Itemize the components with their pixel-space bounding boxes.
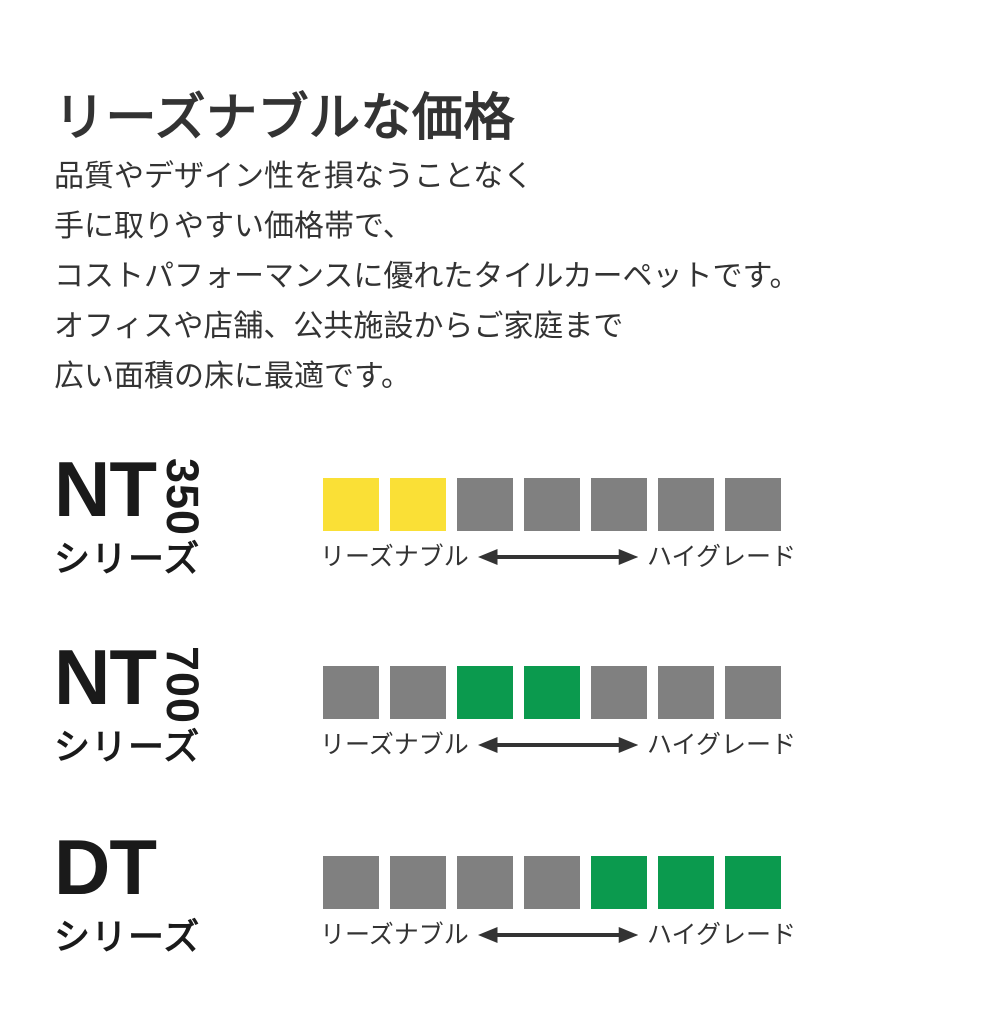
grade-swatch [658,478,714,531]
double-headed-arrow-icon [478,925,638,945]
grade-swatch [524,666,580,719]
scale-high-label: ハイグレード [647,728,796,762]
body-line: 広い面積の床に最適です。 [54,352,800,402]
grade-swatch [725,666,781,719]
scale-low-label: リーズナブル [320,540,469,574]
series-label-nt700: NT 700 シリーズ [54,636,304,786]
series-subtitle: シリーズ [54,718,200,770]
series-name-number: 350 [160,458,205,536]
grade-swatch [390,478,446,531]
scale-low-label: リーズナブル [320,728,469,762]
series-name: NT 700 [54,644,205,710]
price-grade-scale: リーズナブル ハイグレード [323,666,793,776]
swatch-strip [323,856,781,909]
promo-page: リーズナブルな価格 品質やデザイン性を損なうことなく 手に取りやすい価格帯で、 … [0,0,1000,1000]
series-row: NT 350 シリーズ リーズナブル ハイグレード [0,448,1000,638]
swatch-strip [323,478,781,531]
scale-legend: リーズナブル ハイグレード [320,918,796,952]
grade-swatch [524,478,580,531]
series-name-main: DT [54,834,156,900]
grade-swatch [591,856,647,909]
scale-legend: リーズナブル ハイグレード [320,728,796,762]
scale-legend: リーズナブル ハイグレード [320,540,796,574]
body-line: 手に取りやすい価格帯で、 [54,202,800,252]
grade-swatch [725,478,781,531]
series-label-nt350: NT 350 シリーズ [54,448,304,598]
grade-swatch [323,478,379,531]
grade-swatch [658,666,714,719]
grade-swatch [323,666,379,719]
grade-swatch [457,478,513,531]
grade-swatch [591,666,647,719]
grade-swatch [457,666,513,719]
grade-swatch [725,856,781,909]
grade-swatch [323,856,379,909]
grade-swatch [658,856,714,909]
series-row: DT シリーズ リーズナブル ハイグレード [0,826,1000,1016]
series-label-dt: DT シリーズ [54,826,304,976]
body-line: オフィスや店舗、公共施設からご家庭まで [54,302,800,352]
double-headed-arrow-icon [478,547,638,567]
body-line: コストパフォーマンスに優れたタイルカーペットです。 [54,252,800,302]
series-subtitle: シリーズ [54,530,200,582]
price-grade-scale: リーズナブル ハイグレード [323,478,793,588]
series-subtitle: シリーズ [54,908,200,960]
grade-swatch [524,856,580,909]
series-name: NT 350 [54,456,205,522]
body-copy: 品質やデザイン性を損なうことなく 手に取りやすい価格帯で、 コストパフォーマンス… [54,152,800,402]
price-grade-scale: リーズナブル ハイグレード [323,856,793,966]
series-row: NT 700 シリーズ リーズナブル ハイグレード [0,636,1000,826]
grade-swatch [591,478,647,531]
body-line: 品質やデザイン性を損なうことなく [54,152,800,202]
series-name-main: NT [54,456,156,522]
page-title: リーズナブルな価格 [54,91,515,145]
grade-swatch [390,666,446,719]
series-name-main: NT [54,644,156,710]
series-name-number: 700 [160,646,205,724]
double-headed-arrow-icon [478,735,638,755]
series-name: DT [54,834,156,900]
swatch-strip [323,666,781,719]
grade-swatch [457,856,513,909]
grade-swatch [390,856,446,909]
scale-low-label: リーズナブル [320,918,469,952]
scale-high-label: ハイグレード [647,540,796,574]
scale-high-label: ハイグレード [647,918,796,952]
